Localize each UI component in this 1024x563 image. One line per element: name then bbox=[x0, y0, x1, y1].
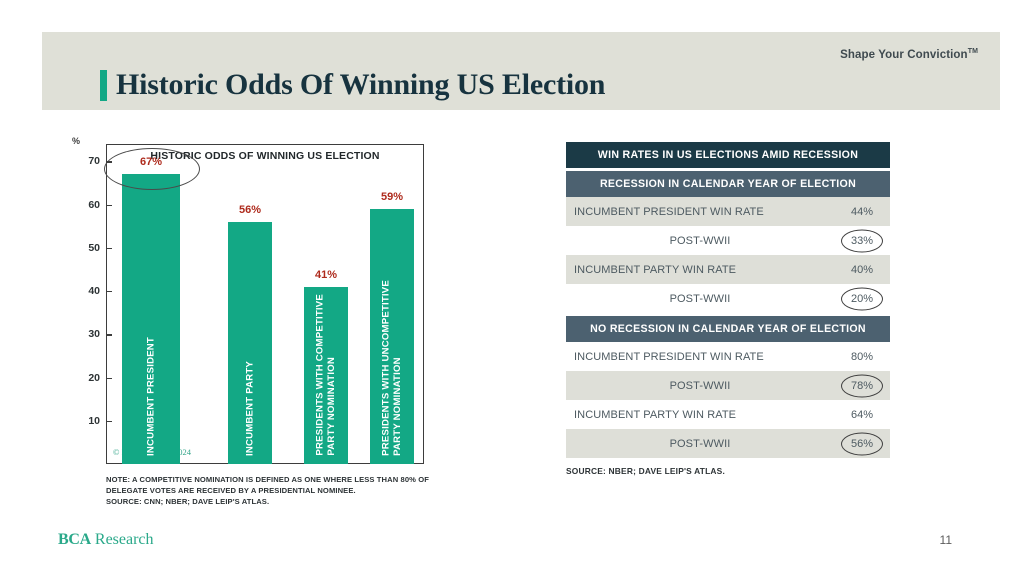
table-row: POST-WWII20% bbox=[566, 284, 890, 313]
table-row: INCUMBENT PRESIDENT WIN RATE44% bbox=[566, 197, 890, 226]
table-panel: WIN RATES IN US ELECTIONS AMID RECESSION… bbox=[566, 142, 890, 476]
y-axis-tick-label: 20 bbox=[88, 372, 100, 384]
bar-category-label: PRESIDENTS WITH UNCOMPETITIVE PARTY NOMI… bbox=[381, 280, 404, 456]
title-accent-bar bbox=[100, 70, 107, 101]
page-title: Historic Odds Of Winning US Election bbox=[116, 68, 605, 102]
y-axis-tick-label: 70 bbox=[88, 155, 100, 167]
table-row-label: INCUMBENT PARTY WIN RATE bbox=[566, 409, 834, 421]
table-subheader: RECESSION IN CALENDAR YEAR OF ELECTION bbox=[566, 171, 890, 197]
y-axis-tick-label: 50 bbox=[88, 242, 100, 254]
table-row-value-highlighted: 33% bbox=[834, 235, 890, 247]
y-axis-tick-mark bbox=[106, 421, 112, 422]
bar-category-label: PRESIDENTS WITH COMPETITIVE PARTY NOMINA… bbox=[315, 294, 338, 456]
bar-value-label: 59% bbox=[381, 191, 403, 203]
table-row-value-highlighted: 20% bbox=[834, 293, 890, 305]
chart-bar: PRESIDENTS WITH UNCOMPETITIVE PARTY NOMI… bbox=[370, 209, 414, 464]
table-row: POST-WWII78% bbox=[566, 371, 890, 400]
table-sections: RECESSION IN CALENDAR YEAR OF ELECTIONIN… bbox=[566, 171, 890, 458]
bar-value-label: 41% bbox=[315, 269, 337, 281]
page-number: 11 bbox=[940, 533, 952, 547]
table-row-label: INCUMBENT PRESIDENT WIN RATE bbox=[566, 206, 834, 218]
y-axis-tick-label: 40 bbox=[88, 285, 100, 297]
y-axis-tick-label: 60 bbox=[88, 199, 100, 211]
table-row-label: INCUMBENT PRESIDENT WIN RATE bbox=[566, 351, 834, 363]
table-source: SOURCE: NBER; DAVE LEIP'S ATLAS. bbox=[566, 466, 890, 476]
y-axis-tick-mark bbox=[106, 291, 112, 292]
table-row-value: 64% bbox=[834, 409, 890, 421]
y-axis-tick-mark bbox=[106, 334, 112, 335]
chart-bar: INCUMBENT PARTY bbox=[228, 222, 272, 464]
table-row: POST-WWII33% bbox=[566, 226, 890, 255]
table-row-label: POST-WWII bbox=[566, 235, 834, 247]
chart-footnote: NOTE: A COMPETITIVE NOMINATION IS DEFINE… bbox=[106, 474, 462, 507]
chart-bar: PRESIDENTS WITH COMPETITIVE PARTY NOMINA… bbox=[304, 287, 348, 464]
table-row: INCUMBENT PARTY WIN RATE40% bbox=[566, 255, 890, 284]
brand-logo-bca: BCA bbox=[58, 531, 91, 548]
table-row-value: 40% bbox=[834, 264, 890, 276]
table-header: WIN RATES IN US ELECTIONS AMID RECESSION bbox=[566, 142, 890, 168]
bar-value-label: 56% bbox=[239, 204, 261, 216]
bar-value-label: 67% bbox=[140, 156, 162, 168]
table-row: POST-WWII56% bbox=[566, 429, 890, 458]
chart-note-text: NOTE: A COMPETITIVE NOMINATION IS DEFINE… bbox=[106, 474, 462, 496]
y-axis-tick-mark bbox=[106, 205, 112, 206]
trademark-mark: TM bbox=[968, 48, 978, 55]
title-group: Historic Odds Of Winning US Election bbox=[100, 68, 605, 102]
brand-logo-research: Research bbox=[91, 531, 154, 548]
table-subheader: NO RECESSION IN CALENDAR YEAR OF ELECTIO… bbox=[566, 316, 890, 342]
table-row-value-highlighted: 78% bbox=[834, 380, 890, 392]
table-row-label: INCUMBENT PARTY WIN RATE bbox=[566, 264, 834, 276]
y-axis-tick-label: 10 bbox=[88, 415, 100, 427]
y-axis-tick-mark bbox=[106, 378, 112, 379]
table-row: INCUMBENT PRESIDENT WIN RATE80% bbox=[566, 342, 890, 371]
header-band: Shape Your ConvictionTM Historic Odds Of… bbox=[42, 32, 1000, 110]
table-row-label: POST-WWII bbox=[566, 293, 834, 305]
chart-source-text: SOURCE: CNN; NBER; DAVE LEIP'S ATLAS. bbox=[106, 496, 462, 507]
slide-canvas: Shape Your ConvictionTM Historic Odds Of… bbox=[0, 0, 1024, 563]
table-row-value: 80% bbox=[834, 351, 890, 363]
table-row: INCUMBENT PARTY WIN RATE64% bbox=[566, 400, 890, 429]
table-row-label: POST-WWII bbox=[566, 380, 834, 392]
y-axis: 10203040506070 bbox=[62, 144, 106, 464]
y-axis-tick-label: 30 bbox=[88, 328, 100, 340]
y-axis-tick-mark bbox=[106, 248, 112, 249]
tagline-text: Shape Your Conviction bbox=[840, 49, 968, 61]
bar-category-label: INCUMBENT PARTY bbox=[244, 361, 255, 456]
chart-panel: % 10203040506070 HISTORIC ODDS OF WINNIN… bbox=[62, 136, 462, 506]
brand-logo: BCA Research bbox=[58, 531, 154, 549]
chart-bar: INCUMBENT PRESIDENT bbox=[122, 174, 180, 464]
bar-category-label: INCUMBENT PRESIDENT bbox=[145, 337, 156, 456]
table-row-label: POST-WWII bbox=[566, 438, 834, 450]
table-row-value: 44% bbox=[834, 206, 890, 218]
tagline: Shape Your ConvictionTM bbox=[840, 48, 978, 61]
y-axis-tick-mark bbox=[106, 161, 112, 162]
table-row-value-highlighted: 56% bbox=[834, 438, 890, 450]
bars-layer: INCUMBENT PRESIDENT67%INCUMBENT PARTY56%… bbox=[106, 144, 424, 464]
